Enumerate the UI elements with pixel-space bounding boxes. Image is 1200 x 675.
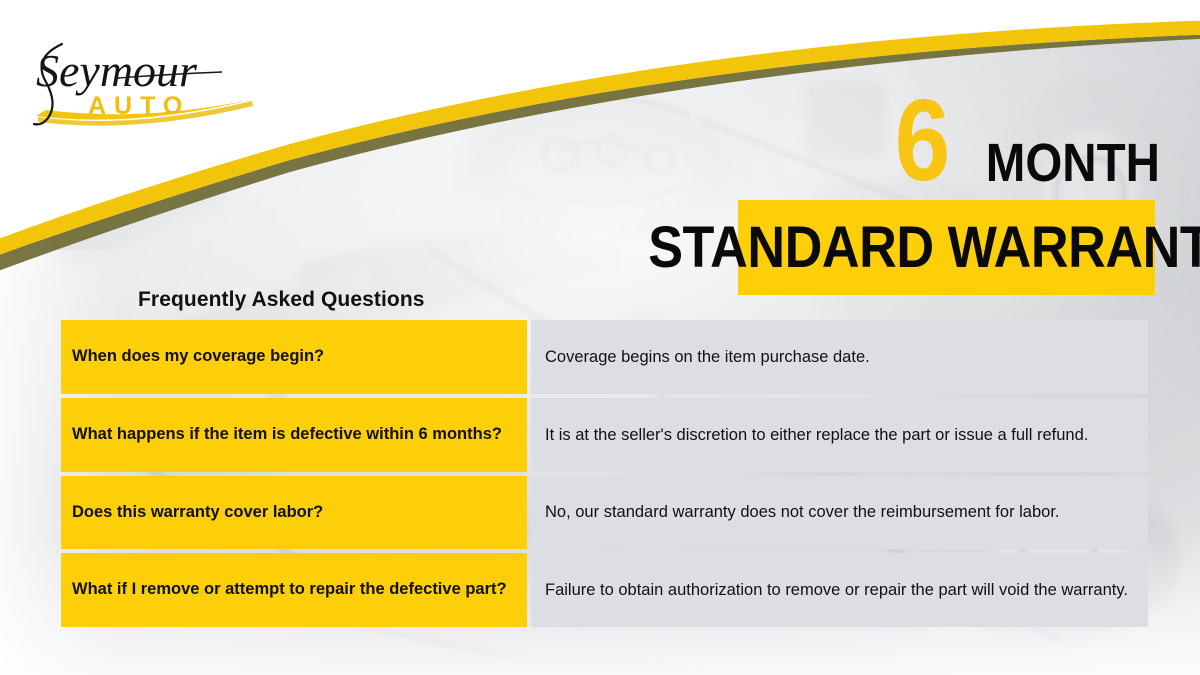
logo-auto-text: AUTO — [88, 92, 190, 120]
faq-question-text: What if I remove or attempt to repair th… — [72, 579, 507, 601]
faq-answer-text: Failure to obtain authorization to remov… — [545, 579, 1135, 601]
faq-question-cell: When does my coverage begin? — [61, 320, 527, 394]
faq-question-text: What happens if the item is defective wi… — [72, 424, 502, 446]
standard-warranty-banner: STANDARD WARRANTY — [738, 200, 1155, 295]
faq-question-cell: What if I remove or attempt to repair th… — [61, 553, 527, 627]
logo-script-text: Seymour — [36, 45, 198, 96]
faq-question-text: Does this warranty cover labor? — [72, 502, 323, 524]
seymour-auto-logo: Seymour AUTO — [22, 24, 262, 136]
table-row: What happens if the item is defective wi… — [61, 398, 1148, 472]
faq-heading: Frequently Asked Questions — [138, 288, 425, 312]
faq-question-cell: Does this warranty cover labor? — [61, 476, 527, 549]
faq-question-cell: What happens if the item is defective wi… — [61, 398, 527, 472]
faq-question-text: When does my coverage begin? — [72, 346, 324, 368]
faq-answer-text: It is at the seller's discretion to eith… — [545, 424, 1135, 446]
duration-unit: MONTH — [986, 141, 1160, 188]
table-row: Does this warranty cover labor? No, our … — [61, 476, 1148, 549]
faq-answer-cell: Coverage begins on the item purchase dat… — [531, 320, 1148, 394]
faq-table: When does my coverage begin? Coverage be… — [61, 320, 1148, 627]
duration-number: 6 — [894, 93, 948, 188]
duration-headline: 6 MONTH — [900, 76, 1160, 188]
table-row: What if I remove or attempt to repair th… — [61, 553, 1148, 627]
faq-answer-cell: No, our standard warranty does not cover… — [531, 476, 1148, 549]
faq-answer-cell: Failure to obtain authorization to remov… — [531, 553, 1148, 627]
table-row: When does my coverage begin? Coverage be… — [61, 320, 1148, 394]
standard-warranty-text: STANDARD WARRANTY — [648, 219, 1200, 277]
warranty-slide: Seymour AUTO 6 MONTH STANDARD WARRANTY F… — [0, 0, 1200, 675]
faq-answer-cell: It is at the seller's discretion to eith… — [531, 398, 1148, 472]
faq-answer-text: Coverage begins on the item purchase dat… — [545, 346, 1135, 368]
faq-answer-text: No, our standard warranty does not cover… — [545, 501, 1135, 523]
